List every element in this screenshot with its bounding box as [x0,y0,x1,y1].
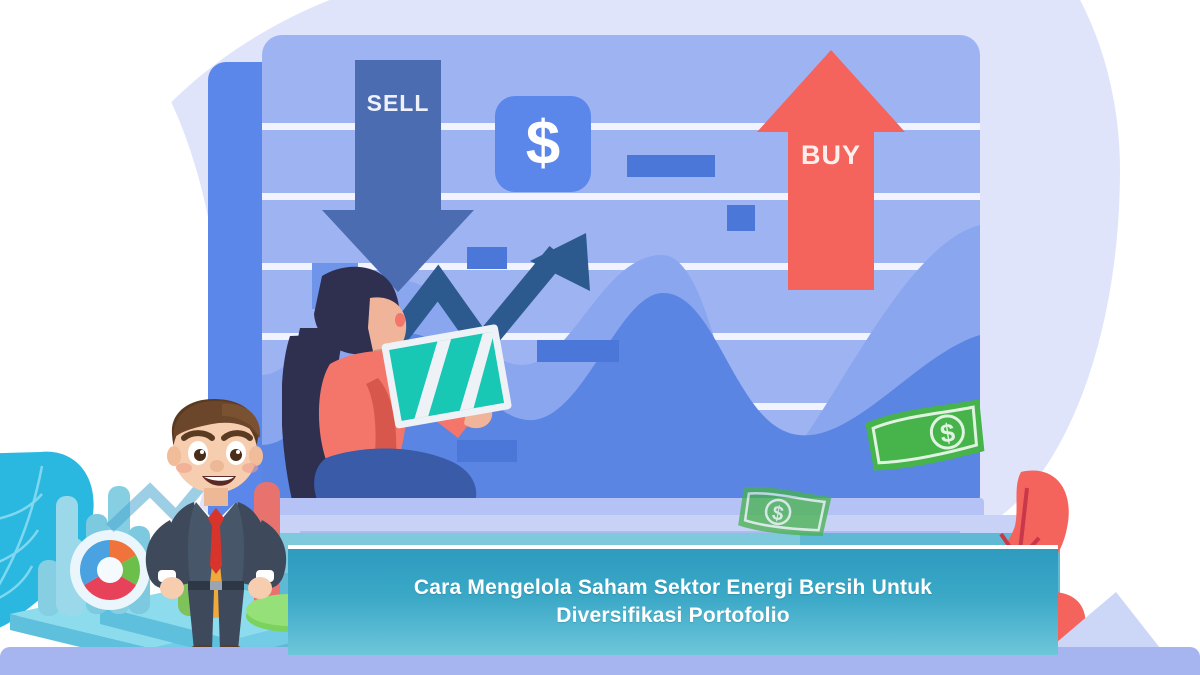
sell-arrow-shaft [355,60,441,220]
sell-label: SELL [322,90,474,117]
screen-tick-block [727,205,755,231]
title-line-2: Diversifikasi Portofolio [353,602,993,630]
title-line-1: Cara Mengelola Saham Sektor Energi Bersi… [414,576,932,599]
buy-arrow-up: BUY [757,50,905,290]
illustration-canvas: SELL BUY $ [0,0,1200,675]
dollar-sign-icon: $ [495,96,591,192]
page-title: Cara Mengelola Saham Sektor Energi Bersi… [353,574,993,631]
screen-tick-block [627,155,715,177]
buy-arrow-head [757,50,905,132]
businessman-3d [126,398,306,658]
buy-label: BUY [757,140,905,171]
title-banner: Cara Mengelola Saham Sektor Energi Bersi… [288,545,1058,655]
dollar-symbol: $ [526,113,560,175]
